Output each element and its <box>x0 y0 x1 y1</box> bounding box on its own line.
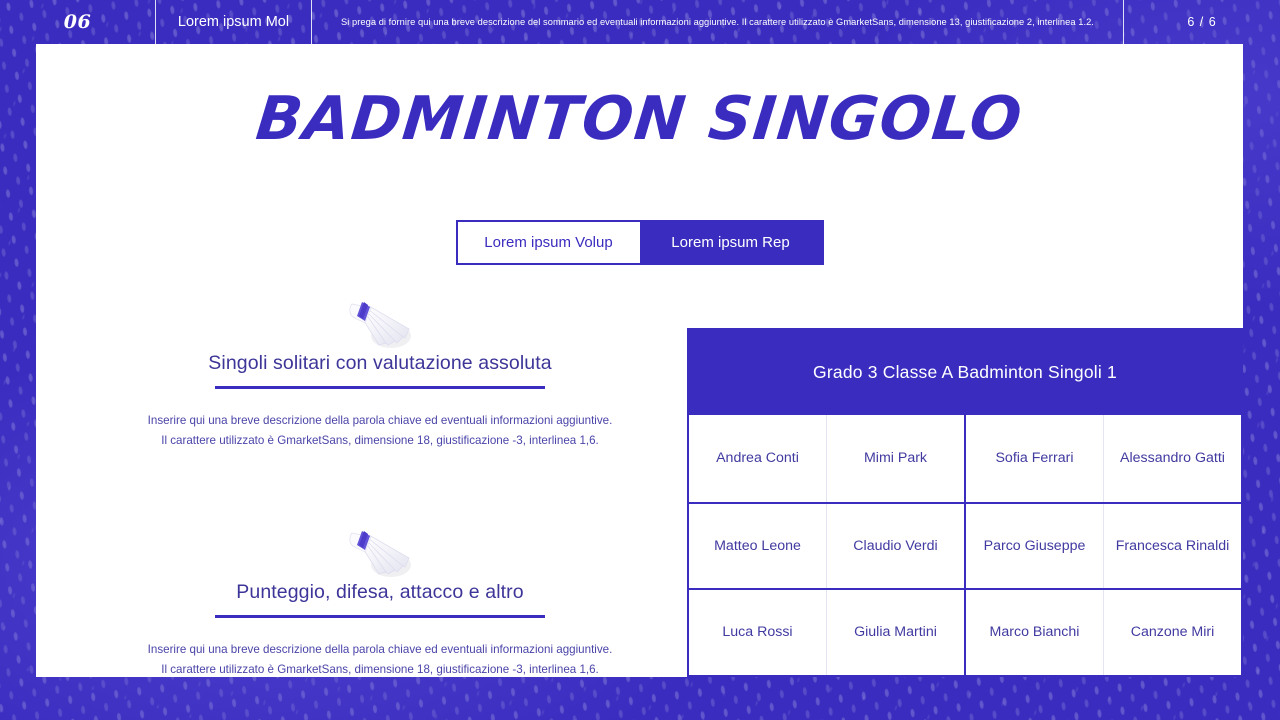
tab-bar: Lorem ipsum Volup Lorem ipsum Rep <box>456 220 824 265</box>
feature-body-line-1: Inserire qui una breve descrizione della… <box>92 640 668 660</box>
table-cell: Andrea Conti <box>689 415 826 502</box>
slide-number: 06 <box>0 0 156 44</box>
shuttlecock-icon <box>92 521 668 581</box>
feature-heading: Singoli solitari con valutazione assolut… <box>92 352 668 386</box>
table-cell: Parco Giuseppe <box>964 504 1103 589</box>
table-cell: Sofia Ferrari <box>964 415 1103 502</box>
feature-block-2: Punteggio, difesa, attacco e altro Inser… <box>92 521 668 680</box>
page-title: BADMINTON SINGOLO <box>32 84 1246 154</box>
table-cell: Mimi Park <box>826 415 964 502</box>
feature-body-line-2: Il carattere utilizzato è GmarketSans, d… <box>92 431 668 451</box>
feature-heading: Punteggio, difesa, attacco e altro <box>92 581 668 615</box>
table-cell: Giulia Martini <box>826 590 964 675</box>
tab-lorem-ipsum-rep[interactable]: Lorem ipsum Rep <box>640 222 822 263</box>
feature-divider <box>215 615 545 618</box>
table-cell: Marco Bianchi <box>964 590 1103 675</box>
slide-description: Si prega di fornire qui una breve descri… <box>312 0 1124 44</box>
feature-body: Inserire qui una breve descrizione della… <box>92 411 668 452</box>
slide-subject: Lorem ipsum Mol <box>156 0 312 44</box>
players-table: Grado 3 Classe A Badminton Singoli 1 And… <box>687 328 1243 677</box>
table-row: Andrea Conti Mimi Park Sofia Ferrari Ale… <box>689 415 1241 502</box>
top-bar: 06 Lorem ipsum Mol Si prega di fornire q… <box>0 0 1280 44</box>
content-card: BADMINTON SINGOLO Lorem ipsum Volup Lore… <box>36 44 1243 677</box>
table-cell: Alessandro Gatti <box>1103 415 1241 502</box>
page-indicator: 6 / 6 <box>1124 0 1280 44</box>
feature-divider <box>215 386 545 389</box>
table-row: Matteo Leone Claudio Verdi Parco Giusepp… <box>689 502 1241 589</box>
table-cell: Canzone Miri <box>1103 590 1241 675</box>
table-header: Grado 3 Classe A Badminton Singoli 1 <box>689 330 1241 415</box>
tab-lorem-ipsum-volup[interactable]: Lorem ipsum Volup <box>458 222 640 263</box>
table-row: Luca Rossi Giulia Martini Marco Bianchi … <box>689 588 1241 675</box>
shuttlecock-icon <box>92 292 668 352</box>
feature-body-line-2: Il carattere utilizzato è GmarketSans, d… <box>92 660 668 680</box>
table-cell: Matteo Leone <box>689 504 826 589</box>
feature-block-1: Singoli solitari con valutazione assolut… <box>92 292 668 451</box>
slide-canvas: 06 Lorem ipsum Mol Si prega di fornire q… <box>0 0 1280 720</box>
table-cell: Francesca Rinaldi <box>1103 504 1241 589</box>
table-cell: Claudio Verdi <box>826 504 964 589</box>
table-cell: Luca Rossi <box>689 590 826 675</box>
feature-body-line-1: Inserire qui una breve descrizione della… <box>92 411 668 431</box>
feature-body: Inserire qui una breve descrizione della… <box>92 640 668 681</box>
feature-list: Singoli solitari con valutazione assolut… <box>92 292 668 680</box>
